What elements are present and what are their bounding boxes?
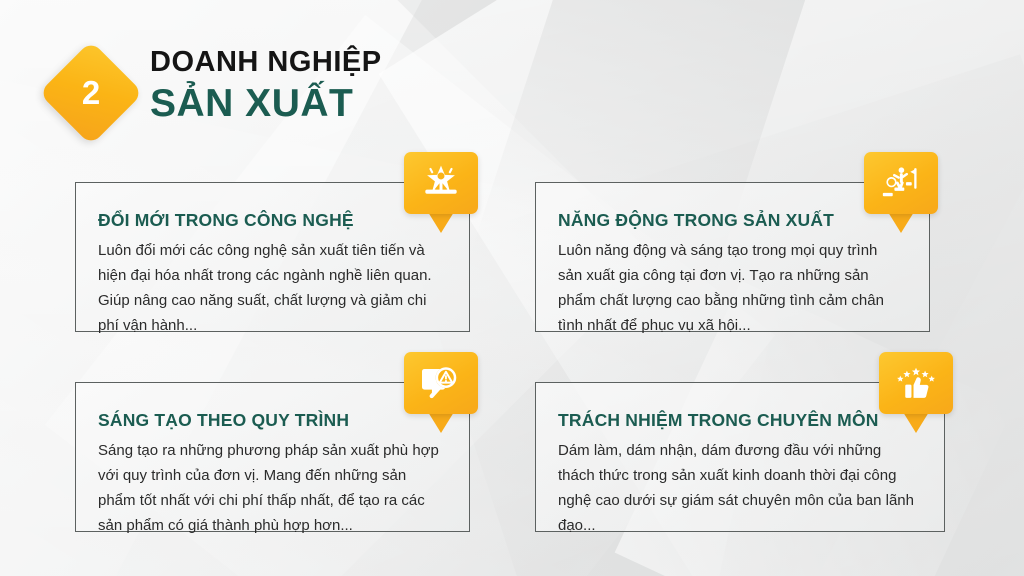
card-badge-trach-nhiem-trong-chuyen-mon <box>879 352 953 414</box>
badge-pointer <box>888 212 914 233</box>
stairs-flag-icon <box>864 152 938 214</box>
page-title-line-2: SẢN XUẤT <box>150 81 382 127</box>
page-title: DOANH NGHIỆP SẢN XUẤT <box>150 45 382 127</box>
thumbs-up-stars-icon <box>879 352 953 414</box>
slide-canvas: 2 DOANH NGHIỆP SẢN XUẤT ĐỔI MỚI TRONG CÔ… <box>0 0 1024 576</box>
card-title: NĂNG ĐỘNG TRONG SẢN XUẤT <box>558 209 905 231</box>
card-body: Dám làm, dám nhận, dám đương đầu với nhữ… <box>558 438 920 538</box>
badge-pointer <box>903 412 929 433</box>
step-number-label: 2 <box>54 56 128 130</box>
page-title-line-1: DOANH NGHIỆP <box>150 45 382 79</box>
star-person-icon <box>404 152 478 214</box>
card-body: Sáng tạo ra những phương pháp sản xuất p… <box>98 438 445 538</box>
magnifier-alert-icon <box>404 352 478 414</box>
slide-header: 2 DOANH NGHIỆP SẢN XUẤT <box>50 45 750 155</box>
badge-pointer <box>428 412 454 433</box>
card-title: SÁNG TẠO THEO QUY TRÌNH <box>98 409 445 431</box>
card-title: TRÁCH NHIỆM TRONG CHUYÊN MÔN <box>558 409 920 431</box>
card-body: Luôn đổi mới các công nghệ sản xuất tiên… <box>98 238 445 338</box>
card-badge-sang-tao-theo-quy-trinh <box>404 352 478 414</box>
card-body: Luôn năng động và sáng tạo trong mọi quy… <box>558 238 905 338</box>
card-title: ĐỔI MỚI TRONG CÔNG NGHỆ <box>98 209 445 231</box>
badge-pointer <box>428 212 454 233</box>
card-badge-nang-dong-trong-san-xuat <box>864 152 938 214</box>
card-badge-doi-moi-trong-cong-nghe <box>404 152 478 214</box>
